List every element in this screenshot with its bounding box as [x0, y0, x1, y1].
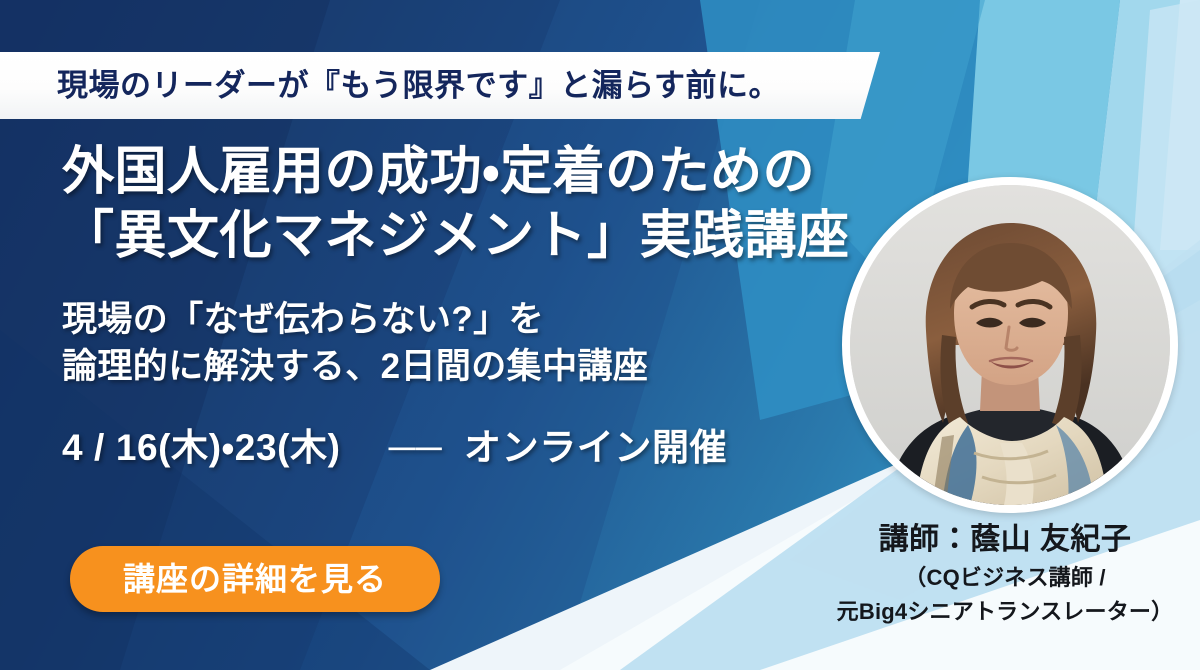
date-and-format-line: 4 / 16(木)・23(木)── オンライン開催	[62, 417, 862, 471]
ribbon-headline-text: 現場のリーダーが『もう限界です』と漏らす前に。	[57, 70, 780, 101]
subtitle-block: 現場の「なぜ伝わらない?」を 論理的に解決する、2日間の集中講座	[62, 297, 862, 391]
cta-container: 講座の詳細を見る	[70, 546, 440, 612]
instructor-portrait-photo	[842, 177, 1178, 513]
title-line-1: 外国人雇用の成功・定着のための	[62, 140, 862, 204]
subtitle-line-2: 論理的に解決する、2日間の集中講座	[62, 344, 862, 391]
event-format-text: オンライン開催	[464, 427, 727, 468]
instructor-role-line-1: （CQビジネス講師 /	[810, 563, 1200, 592]
subtitle-line-1: 現場の「なぜ伝わらない?」を	[62, 297, 862, 344]
instructor-caption: 講師：蔭山 友紀子 （CQビジネス講師 / 元Big4シニアトランスレーター）	[810, 522, 1200, 626]
instructor-name-text: 講師：蔭山 友紀子	[810, 522, 1200, 558]
instructor-role-line-2: 元Big4シニアトランスレーター）	[810, 597, 1200, 626]
event-date-text: 4 / 16(木)・23(木)	[62, 427, 341, 468]
date-separator-dash: ──	[389, 427, 443, 468]
seminar-banner: 現場のリーダーが『もう限界です』と漏らす前に。 外国人雇用の成功・定着のための …	[0, 0, 1200, 670]
main-copy-block: 外国人雇用の成功・定着のための 「異文化マネジメント」実践講座 現場の「なぜ伝わ…	[62, 140, 862, 471]
headline-ribbon: 現場のリーダーが『もう限界です』と漏らす前に。	[0, 52, 880, 119]
view-course-details-button[interactable]: 講座の詳細を見る	[70, 546, 440, 612]
portrait-illustration	[850, 185, 1170, 505]
title-line-2: 「異文化マネジメント」実践講座	[62, 204, 862, 268]
